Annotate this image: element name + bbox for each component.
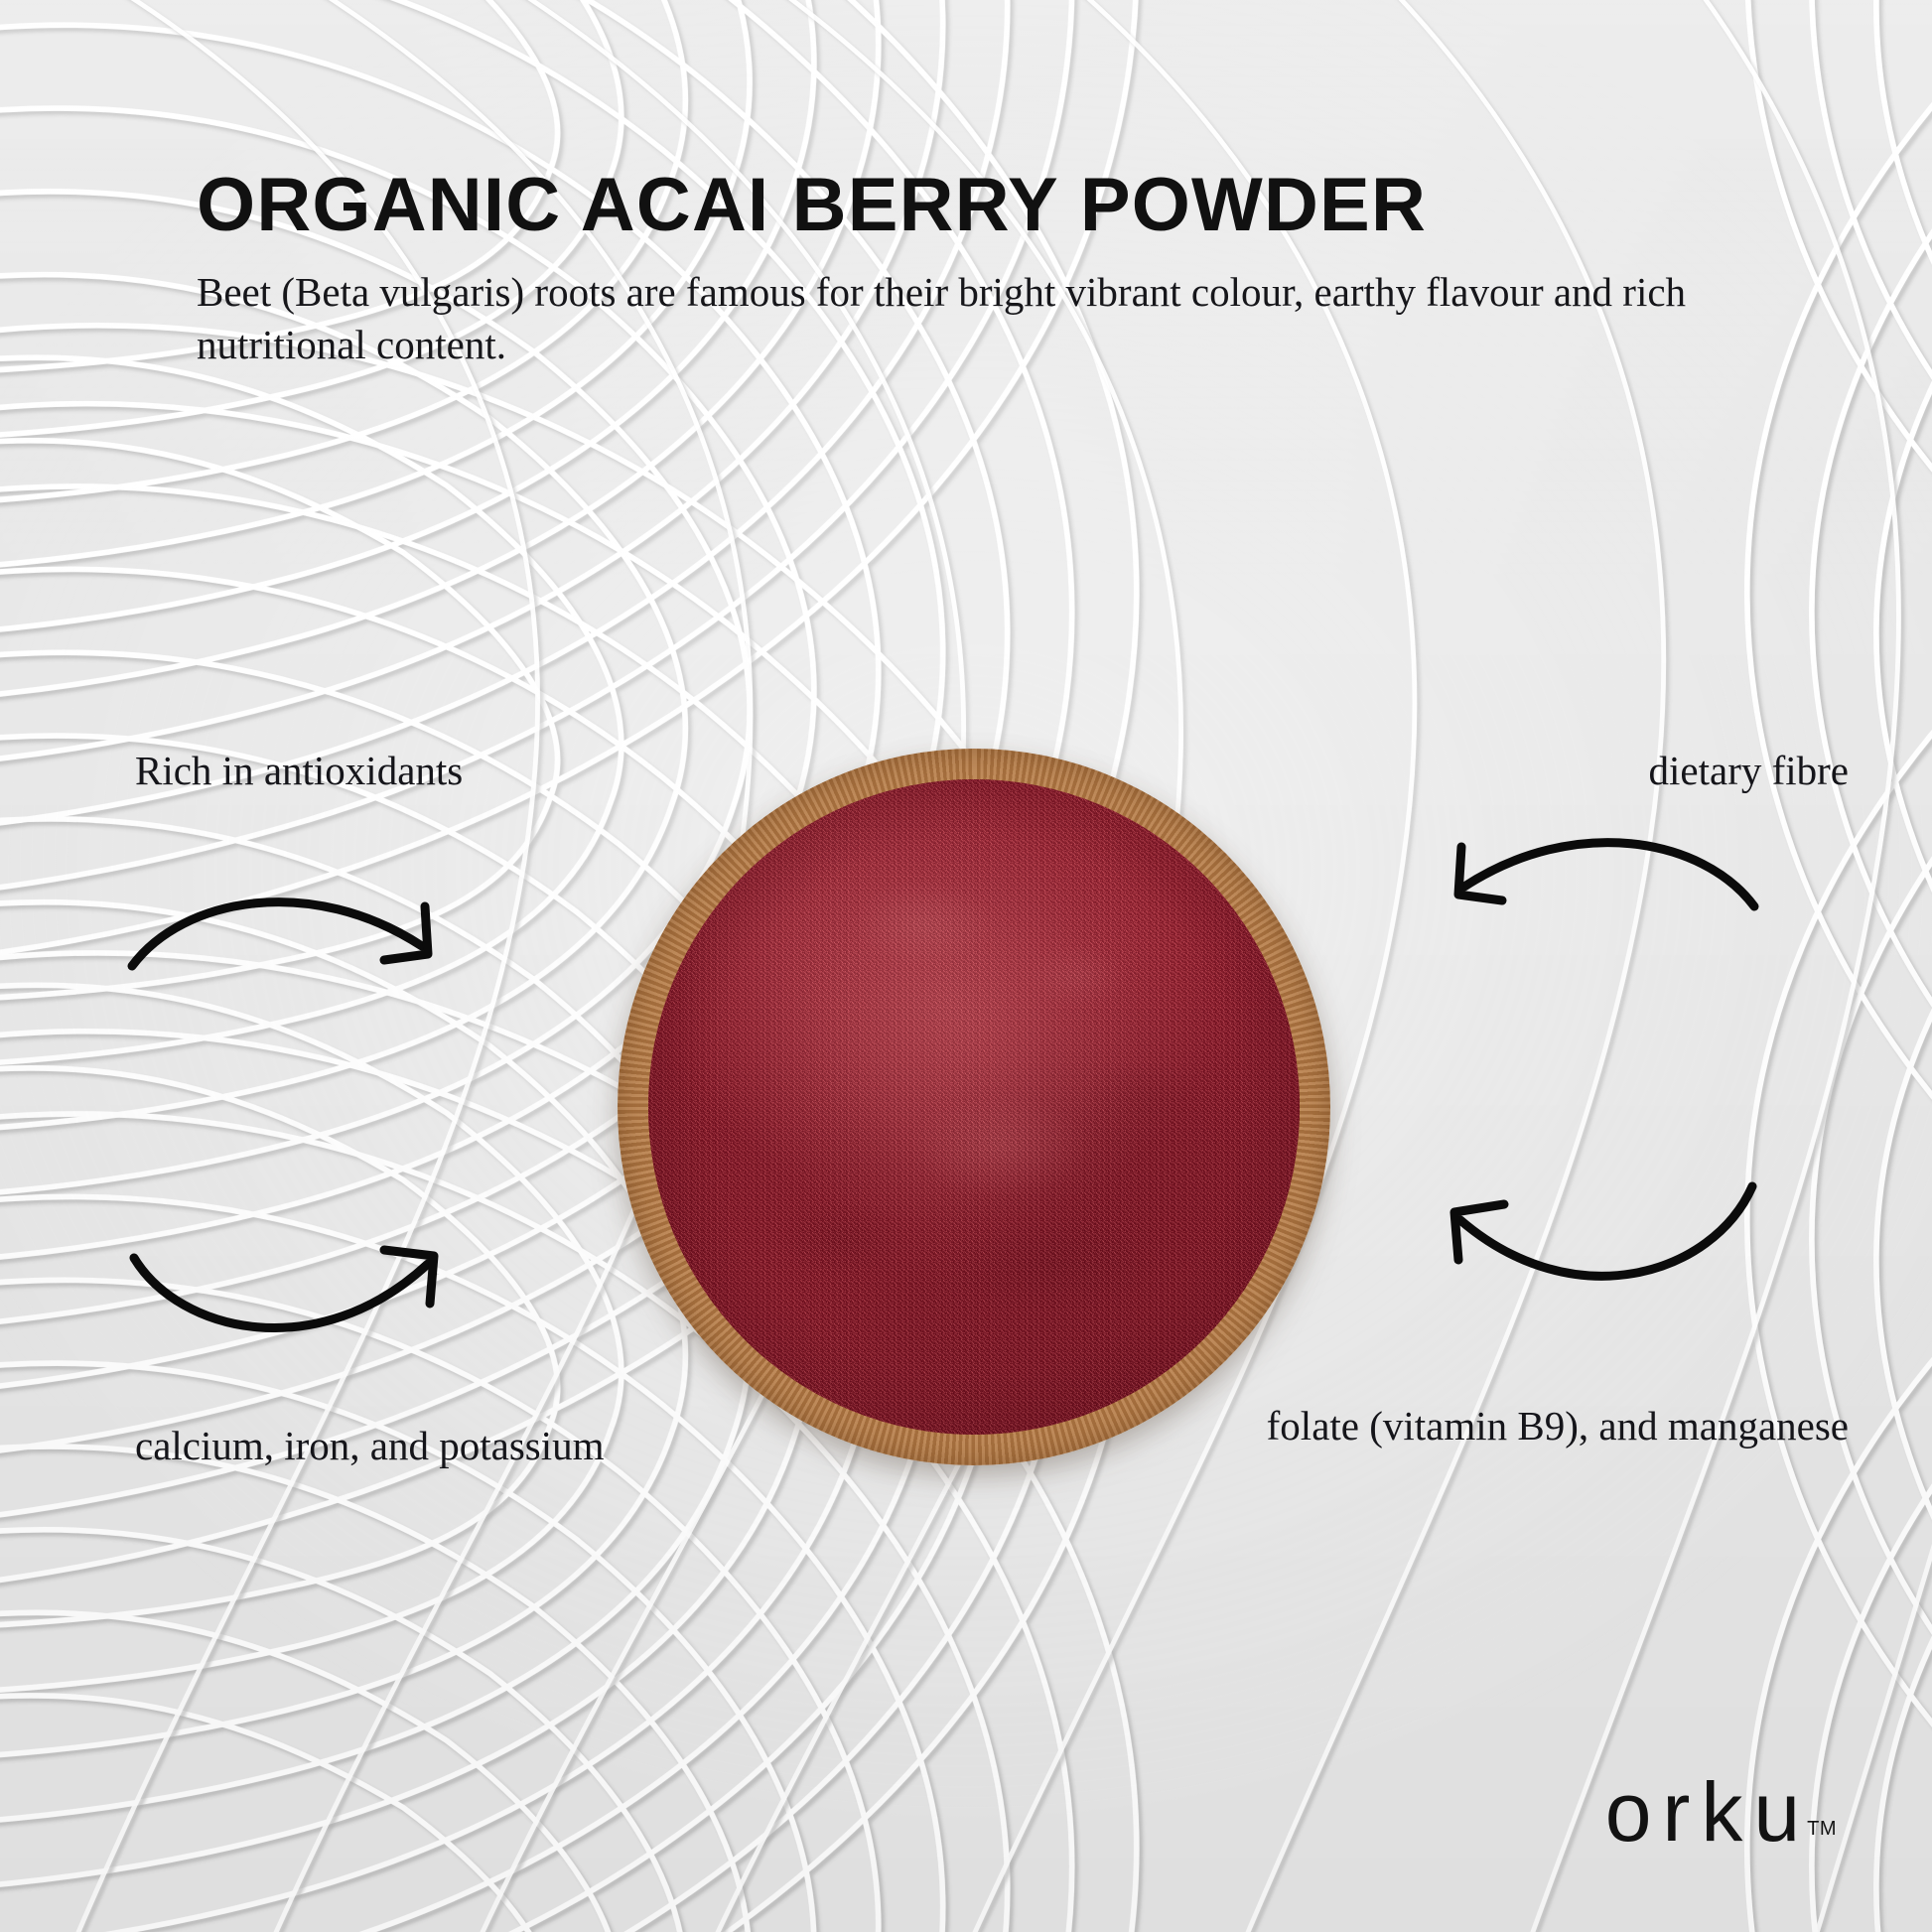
page-title: ORGANIC ACAI BERRY POWDER bbox=[197, 167, 1785, 244]
brand-logo: orku TM bbox=[1605, 1774, 1837, 1851]
callout-label-top-left: Rich in antioxidants bbox=[135, 747, 691, 795]
header: ORGANIC ACAI BERRY POWDER Beet (Beta vul… bbox=[197, 167, 1785, 371]
bowl-wooden-rim bbox=[618, 749, 1330, 1465]
trademark-symbol: TM bbox=[1807, 1819, 1837, 1839]
callout-label-bottom-left: calcium, iron, and potassium bbox=[135, 1422, 691, 1470]
acai-powder-shading bbox=[648, 779, 1300, 1435]
infographic-poster: ORGANIC ACAI BERRY POWDER Beet (Beta vul… bbox=[0, 0, 1932, 1932]
brand-logo-wordmark: orku bbox=[1605, 1774, 1811, 1851]
callout-label-bottom-right: folate (vitamin B9), and manganese bbox=[1213, 1402, 1849, 1450]
product-bowl-image bbox=[618, 749, 1330, 1465]
bowl-interior bbox=[648, 779, 1300, 1435]
page-subtitle: Beet (Beta vulgaris) roots are famous fo… bbox=[197, 266, 1755, 372]
callout-label-top-right: dietary fibre bbox=[1233, 747, 1849, 795]
